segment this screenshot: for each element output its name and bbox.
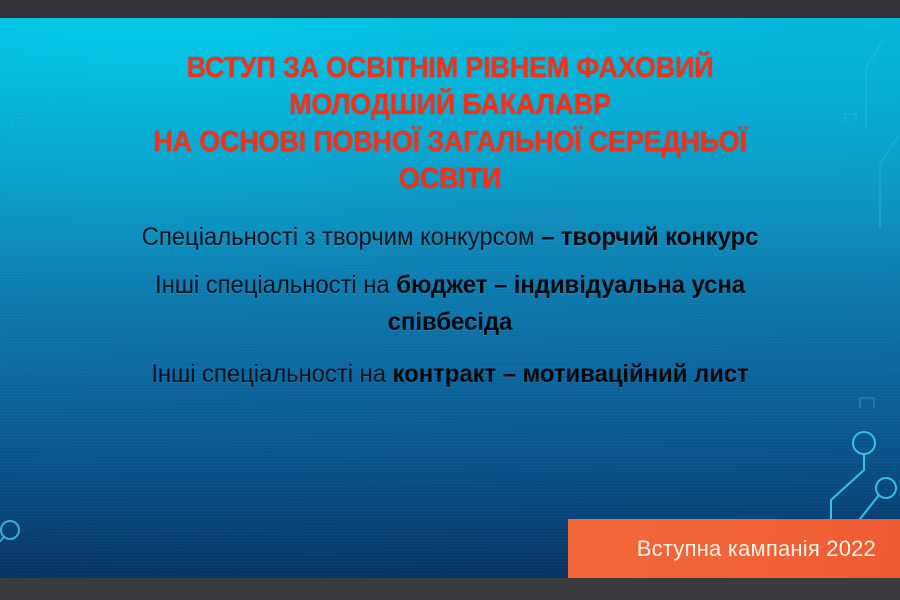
line2-bold-interview: індивідуальна усна [514,271,745,299]
campaign-badge: Вступна кампанія 2022 [568,519,900,578]
line4-bold-contract: контракт [393,360,497,388]
line3-bold-text: співбесіда [388,308,512,336]
slide-title: ВСТУП ЗА ОСВІТНІМ РІВНЕМ ФАХОВИЙ МОЛОДШИ… [32,50,869,198]
line1-dash: – [541,223,554,251]
body-line-interview-continued: співбесіда [18,309,882,336]
slide-body: Спеціальності з творчим конкурсом – твор… [0,224,900,388]
presentation-slide: ВСТУП ЗА ОСВІТНІМ РІВНЕМ ФАХОВИЙ МОЛОДШИ… [0,18,900,578]
line4-bold-motivation-letter: мотиваційний лист [523,360,749,388]
body-line-contract: Інші спеціальності на контракт – мотивац… [18,361,882,388]
line4-normal-text: Інші спеціальності на [151,360,392,388]
line1-normal-text: Спеціальності з творчим конкурсом [142,223,541,251]
line1-bold-text: творчий конкурс [554,223,758,251]
slide-content: ВСТУП ЗА ОСВІТНІМ РІВНЕМ ФАХОВИЙ МОЛОДШИ… [0,18,900,578]
campaign-badge-label: Вступна кампанія 2022 [568,536,876,562]
line2-dash: – [487,271,513,299]
line4-dash: – [496,360,522,388]
letterbox-bar-top [0,0,900,18]
body-line-budget: Інші спеціальності на бюджет – індивідуа… [18,272,882,299]
line2-normal-text: Інші спеціальності на [155,271,396,299]
body-line-creative-competition: Спеціальності з творчим конкурсом – твор… [18,224,882,251]
letterbox-bar-bottom [0,578,900,600]
video-player-frame: ВСТУП ЗА ОСВІТНІМ РІВНЕМ ФАХОВИЙ МОЛОДШИ… [0,0,900,600]
line2-bold-budget: бюджет [396,271,487,299]
